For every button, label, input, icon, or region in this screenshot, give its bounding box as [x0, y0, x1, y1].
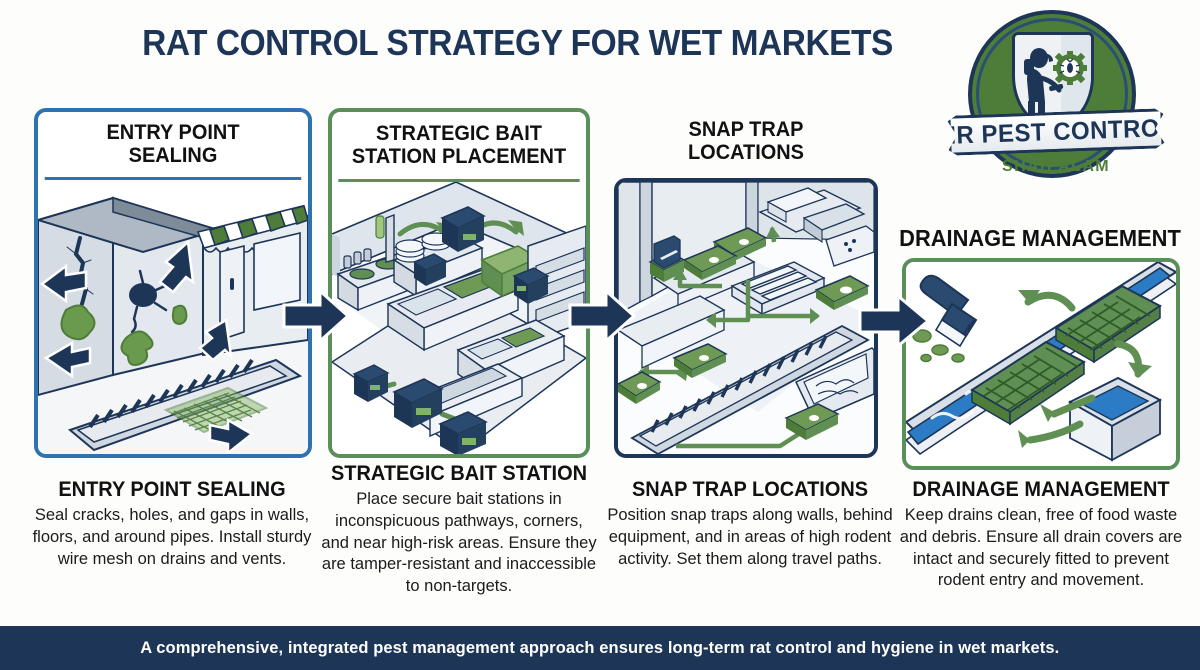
panel-1-box: ENTRY POINT SEALING [34, 108, 312, 458]
caption-2-body: Place secure bait stations in inconspicu… [320, 489, 598, 598]
panel-1-illustration [38, 180, 308, 458]
caption-4-body: Keep drains clean, free of food waste an… [890, 505, 1192, 592]
panel-entry-point-sealing[interactable]: ENTRY POINT SEALING [34, 108, 312, 458]
panel-2-box: STRATEGIC BAIT STATION PLACEMENT [328, 108, 590, 458]
caption-3-body: Position snap traps along walls, behind … [604, 505, 896, 570]
panel-2-header-line1: STRATEGIC BAIT [376, 122, 542, 145]
caption-snap-trap-locations: SNAP TRAP LOCATIONS Position snap traps … [604, 478, 896, 570]
logo-location: SHAH ALAM [948, 158, 1164, 176]
connector-arrow-3-4 [858, 292, 930, 350]
infographic-root: RAT CONTROL STRATEGY FOR WET MARKETS [0, 0, 1200, 670]
caption-4-title: DRAINAGE MANAGEMENT [898, 478, 1185, 502]
panel-3-header-line1: SNAP TRAP [689, 118, 804, 141]
panel-4-box [902, 258, 1180, 470]
gear-bug-icon [1053, 51, 1087, 85]
panel-4-header: DRAINAGE MANAGEMENT [898, 226, 1183, 251]
panel-3-header: SNAP TRAP LOCATIONS [617, 118, 875, 164]
connector-arrow-1-2 [282, 287, 350, 345]
panel-2-illustration [332, 182, 586, 458]
logo-ribbon: MR PEST CONTROL [947, 108, 1164, 156]
panel-1-header: ENTRY POINT SEALING [45, 112, 302, 180]
caption-2-title: STRATEGIC BAIT STATION [327, 462, 591, 486]
panel-4-header-line1: DRAINAGE MANAGEMENT [899, 225, 1181, 251]
connector-arrow-2-3 [568, 287, 636, 345]
panel-snap-trap-locations[interactable] [614, 178, 878, 458]
panel-4-illustration [906, 262, 1176, 466]
panel-drainage-management[interactable] [902, 258, 1180, 470]
panel-3-box [614, 178, 878, 458]
panel-2-header: STRATEGIC BAIT STATION PLACEMENT [338, 112, 579, 182]
panel-strategic-bait-station-placement[interactable]: STRATEGIC BAIT STATION PLACEMENT [328, 108, 590, 458]
caption-1-title: ENTRY POINT SEALING [30, 478, 315, 502]
panel-3-illustration [618, 182, 874, 454]
panel-1-header-line2: SEALING [129, 144, 218, 167]
panel-2-header-line2: STATION PLACEMENT [352, 145, 566, 168]
caption-entry-point-sealing: ENTRY POINT SEALING Seal cracks, holes, … [22, 478, 322, 570]
footer-banner: A comprehensive, integrated pest managem… [0, 626, 1200, 670]
logo-company-name: MR PEST CONTROL [936, 113, 1176, 150]
panel-3-header-line2: LOCATIONS [688, 141, 804, 164]
page-title: RAT CONTROL STRATEGY FOR WET MARKETS [36, 22, 999, 64]
caption-3-title: SNAP TRAP LOCATIONS [611, 478, 888, 502]
company-logo: MR PEST CONTROL SHAH ALAM [948, 8, 1164, 198]
caption-1-body: Seal cracks, holes, and gaps in walls, f… [22, 505, 322, 570]
caption-drainage-management: DRAINAGE MANAGEMENT Keep drains clean, f… [890, 478, 1192, 592]
panel-1-header-line1: ENTRY POINT [106, 121, 239, 144]
footer-text: A comprehensive, integrated pest managem… [140, 638, 1059, 658]
caption-strategic-bait-station: STRATEGIC BAIT STATION Place secure bait… [320, 462, 598, 598]
